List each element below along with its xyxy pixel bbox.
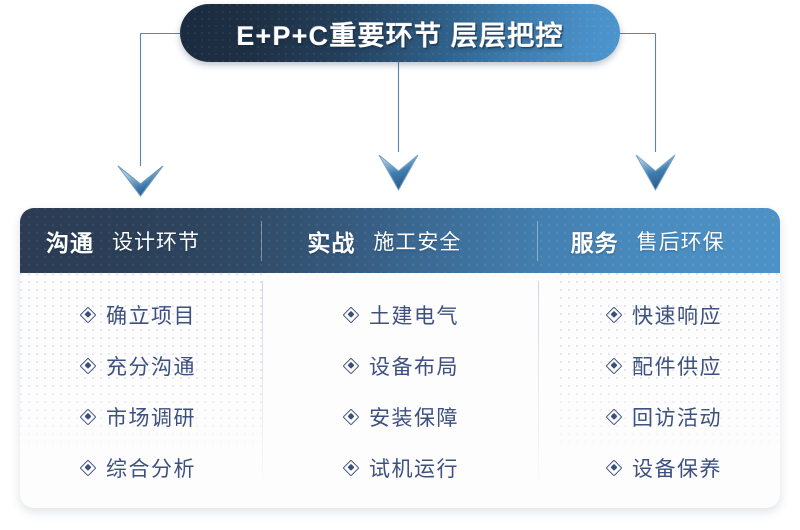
diamond-bullet-icon — [80, 459, 97, 476]
list-item[interactable]: 试机运行 — [345, 442, 538, 493]
list-item[interactable]: 充分沟通 — [82, 340, 262, 391]
diamond-bullet-icon — [606, 459, 623, 476]
list-item-label: 设备保养 — [632, 453, 722, 483]
column-header-1-light: 设计环节 — [112, 226, 200, 256]
panel-header: 沟通 设计环节 实战 施工安全 服务 售后环保 — [20, 208, 780, 273]
diamond-bullet-icon — [606, 306, 623, 323]
chevron-down-arrow-3 — [636, 155, 675, 190]
diamond-bullet-icon — [80, 306, 97, 323]
list-item[interactable]: 快速响应 — [608, 289, 780, 340]
three-column-panel: 沟通 设计环节 实战 施工安全 服务 售后环保 确立项目 — [20, 208, 780, 508]
list-item-label: 设备布局 — [369, 351, 459, 381]
diamond-bullet-icon — [80, 357, 97, 374]
column-list-1: 确立项目 充分沟通 市场调研 综合分析 — [20, 273, 262, 508]
column-list-2: 土建电气 设备布局 安装保障 试机运行 — [262, 273, 538, 508]
list-item[interactable]: 配件供应 — [608, 340, 780, 391]
list-item-label: 综合分析 — [106, 453, 196, 483]
diamond-bullet-icon — [606, 357, 623, 374]
diamond-bullet-icon — [343, 357, 360, 374]
column-header-1-strong: 沟通 — [46, 224, 94, 258]
list-item-label: 安装保障 — [369, 402, 459, 432]
main-title-banner: E+P+C重要环节 层层把控 — [180, 4, 620, 62]
list-item[interactable]: 综合分析 — [82, 442, 262, 493]
chevron-down-arrow-2 — [379, 155, 418, 190]
diamond-bullet-icon — [343, 459, 360, 476]
list-item-label: 充分沟通 — [106, 351, 196, 381]
infographic-canvas: E+P+C重要环节 层层把控 沟通 设计环节 实战 施工安全 服务 售后环保 — [0, 0, 800, 530]
list-item-label: 试机运行 — [369, 453, 459, 483]
column-header-2: 实战 施工安全 — [262, 208, 536, 273]
list-item-label: 土建电气 — [369, 300, 459, 330]
list-item[interactable]: 市场调研 — [82, 391, 262, 442]
column-header-3: 服务 售后环保 — [538, 208, 780, 273]
column-header-2-light: 施工安全 — [373, 226, 461, 256]
diamond-bullet-icon — [80, 408, 97, 425]
list-item-label: 快速响应 — [632, 300, 722, 330]
column-header-3-light: 售后环保 — [637, 226, 725, 256]
column-header-1: 沟通 设计环节 — [20, 208, 261, 273]
column-header-3-strong: 服务 — [571, 224, 619, 258]
list-item[interactable]: 设备保养 — [608, 442, 780, 493]
panel-body: 确立项目 充分沟通 市场调研 综合分析 — [20, 273, 780, 508]
column-list-3: 快速响应 配件供应 回访活动 设备保养 — [538, 273, 780, 508]
list-item-label: 市场调研 — [106, 402, 196, 432]
list-item[interactable]: 确立项目 — [82, 289, 262, 340]
list-item[interactable]: 土建电气 — [345, 289, 538, 340]
list-item[interactable]: 设备布局 — [345, 340, 538, 391]
page-title: E+P+C重要环节 层层把控 — [236, 14, 563, 53]
list-item[interactable]: 安装保障 — [345, 391, 538, 442]
column-header-2-strong: 实战 — [307, 224, 355, 258]
diamond-bullet-icon — [606, 408, 623, 425]
list-item-label: 配件供应 — [632, 351, 722, 381]
list-item-label: 确立项目 — [106, 300, 196, 330]
diamond-bullet-icon — [343, 306, 360, 323]
diamond-bullet-icon — [343, 408, 360, 425]
list-item[interactable]: 回访活动 — [608, 391, 780, 442]
chevron-down-arrow-1 — [118, 166, 163, 196]
list-item-label: 回访活动 — [632, 402, 722, 432]
